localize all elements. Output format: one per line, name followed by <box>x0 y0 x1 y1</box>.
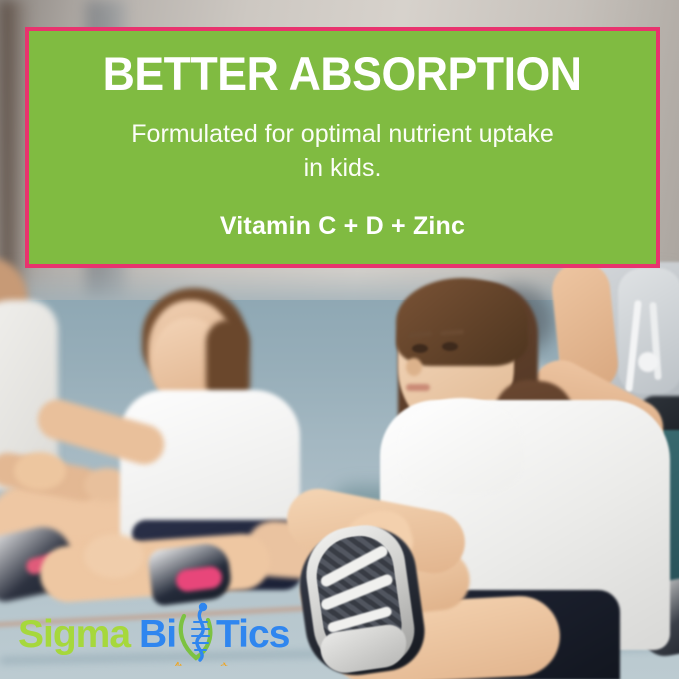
advertisement-image: BETTER ABSORPTION Formulated for optimal… <box>0 0 679 679</box>
brand-word-sigma: Sigma <box>18 615 130 654</box>
promo-banner-inner: BETTER ABSORPTION Formulated for optimal… <box>29 31 656 264</box>
child-main-shoulder <box>398 398 524 494</box>
coach-hood-knot <box>638 352 658 372</box>
child-main-hair-top <box>396 278 528 366</box>
brand-logo: Sigma Bi Tics Nutrition's Best <box>18 606 286 662</box>
child-main-shoe <box>286 516 438 679</box>
headline: BETTER ABSORPTION <box>97 49 587 98</box>
child-background-knee <box>84 534 144 578</box>
ingredient-claim: Vitamin C + D + Zinc <box>220 212 465 241</box>
child-main-nose <box>406 358 422 376</box>
child-background-hand <box>14 452 66 490</box>
brand-logo-text: Sigma Bi Tics <box>18 615 289 654</box>
promo-banner: BETTER ABSORPTION Formulated for optimal… <box>25 27 660 268</box>
child-main-eye <box>412 344 428 353</box>
brand-tagline: Nutrition's Best <box>164 648 238 666</box>
brand-tagline-text: Nutrition's Best <box>173 660 229 666</box>
subheadline: Formulated for optimal nutrient uptake i… <box>123 118 563 185</box>
child-main-eye <box>442 342 458 351</box>
child-main-mouth <box>406 384 430 391</box>
svg-text:Nutrition's Best: Nutrition's Best <box>173 660 229 666</box>
